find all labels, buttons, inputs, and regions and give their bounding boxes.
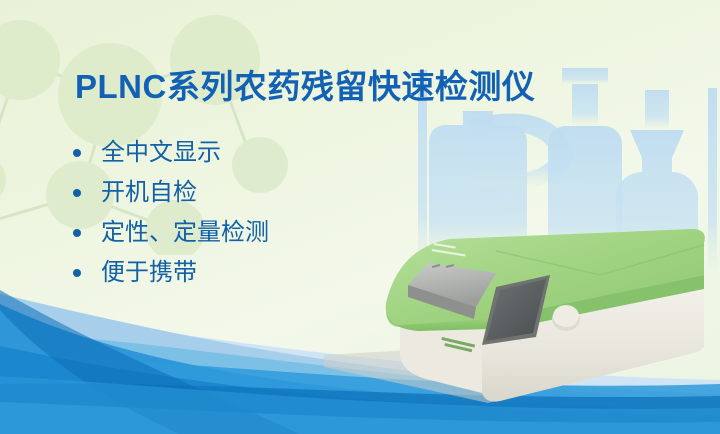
bullet-dot-icon [73, 149, 81, 157]
list-item: 开机自检 [68, 180, 269, 206]
product-banner: PLNC系列农药残留快速检测仪 全中文显示 开机自检 定性、定量检测 便于携带 [0, 0, 720, 434]
list-item: 便于携带 [68, 260, 269, 286]
bullet-dot-icon [73, 269, 81, 277]
feature-list: 全中文显示 开机自检 定性、定量检测 便于携带 [68, 140, 269, 300]
bullet-dot-icon [73, 189, 81, 197]
list-item-label: 便于携带 [101, 259, 197, 286]
list-item: 定性、定量检测 [68, 220, 269, 246]
bullet-dot-icon [73, 229, 81, 237]
list-item-label: 全中文显示 [101, 139, 221, 166]
list-item: 全中文显示 [68, 140, 269, 166]
list-item-label: 定性、定量检测 [101, 219, 269, 246]
pesticide-residue-detector [300, 215, 720, 415]
list-item-label: 开机自检 [101, 179, 197, 206]
page-title: PLNC系列农药残留快速检测仪 [75, 60, 535, 108]
